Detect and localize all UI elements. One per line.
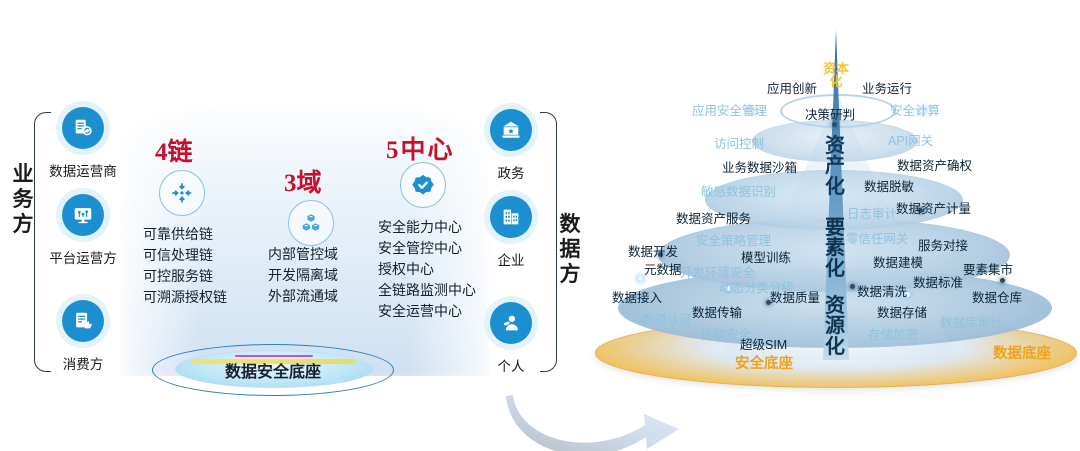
capability-node-label: 要素集市 [963,259,1013,278]
glow-dot [638,276,643,281]
glow-dot [850,284,855,289]
list-item: 外部流通域 [268,287,338,308]
diagram-canvas: 业务方 数据方 数据运营商 [0,0,1080,451]
list-item: 可溯源授权链 [143,288,227,309]
heading-3-domains: 3域 [284,163,322,199]
capability-node-label: 应用创新 [767,78,817,97]
capability-node-label: 数据传输 [692,302,742,321]
capability-node-label: 业务数据沙箱 [722,157,797,176]
list-item: 安全能力中心 [378,218,476,239]
capability-node-label: 超级SIM [740,334,787,353]
glow-dot [1000,278,1005,283]
capability-node-label: API网关 [888,130,933,149]
capability-node-label: 数据库审计 [940,312,1003,331]
actor-chip-individual[interactable] [484,296,538,350]
list-item: 安全管控中心 [378,239,476,260]
list-5-centers: 安全能力中心 安全管控中心 授权中心 全链路监测中心 安全运营中心 [378,218,476,323]
list-item: 授权中心 [378,260,476,281]
stage-name-capitalization: 资本化 [819,62,853,89]
actor-chip-consumer[interactable] [56,294,110,348]
capability-node-label: 数据开发 [628,241,678,260]
capability-node-label: 数据质量 [770,287,820,306]
capability-node-label: 决策研判 [805,104,855,123]
actor-chip-enterprise[interactable] [484,190,538,244]
list-3-domains: 内部管控域 开发隔离域 外部流通域 [268,245,338,308]
office-building-icon [490,196,532,238]
list-item: 内部管控域 [268,245,338,266]
capability-node-label: 敏感数据识别 [701,181,776,200]
capability-node-label: 应用安全管理 [692,100,767,119]
business-bracket [34,112,51,372]
list-item: 全链路监测中心 [378,281,476,302]
document-sync-icon [62,107,104,149]
heading-5-centers: 5中心 [386,130,455,166]
list-item: 可靠供给链 [143,225,227,246]
capability-node-label: 数据标准 [913,272,963,291]
capability-node-label: 访问控制 [714,133,764,152]
capability-node-label: 数据脱敏 [864,176,914,195]
list-item: 可控服务链 [143,267,227,288]
document-thumbsup-icon [62,300,104,342]
government-building-icon [490,109,532,151]
actor-chip-government[interactable] [484,103,538,157]
stage-name-assetization: 资产化 [818,136,852,197]
capability-node-label: 数据建模 [873,252,923,271]
capability-node-label: 零信任网关 [846,228,909,247]
monitor-dashboard-icon [62,194,104,236]
data-base-caption: 数据底座 [993,342,1051,363]
actor-caption-data-operator: 数据运营商 [29,160,137,180]
actor-caption-government: 政务 [457,162,565,182]
list-4-chains: 可靠供给链 可信处理链 可控服务链 可溯源授权链 [143,225,227,309]
capability-node-label: 数据存储 [877,302,927,321]
data-security-base-label: 数据安全底座 [175,358,371,382]
converge-arrows-icon [159,170,205,216]
data-bracket [540,112,557,372]
capability-node-label: 日志审计 [847,203,897,222]
right-cone-panel: 资本化 资产化 要素化 资源化 应用创新业务运行决策研判应用安全管理安全计算访问… [600,0,1080,451]
capability-node-label: 业务运行 [862,78,912,97]
actor-caption-individual: 个人 [457,355,565,375]
capability-node-label: 数据资产计量 [896,198,971,217]
capability-node-label: 服务对接 [918,235,968,254]
capability-node-label: 数据仓库 [972,287,1022,306]
capability-node-label: 数源认证 [642,309,692,328]
star-shield-icon [400,162,446,208]
capability-node-label: 存储加密 [868,324,918,343]
cubes-icon [288,200,334,246]
list-item: 安全运营中心 [378,302,476,323]
capability-node-label: 数据接入 [612,287,662,306]
actor-chip-data-operator[interactable] [56,101,110,155]
stage-name-resourcification: 资源化 [818,296,852,357]
capability-node-label: 元数据 [644,259,682,278]
left-architecture-panel: 业务方 数据方 数据运营商 [0,0,600,451]
actor-chip-platform-operator[interactable] [56,188,110,242]
heading-4-chains: 4链 [155,132,193,168]
actor-caption-platform-operator: 平台运营方 [29,247,137,267]
capability-node-label: 数据资产服务 [676,208,751,227]
capability-node-label: 数据清洗 [857,281,907,300]
capability-node-label: 数据资产确权 [897,155,972,174]
list-item: 可信处理链 [143,246,227,267]
security-base-caption: 安全底座 [735,352,793,373]
actor-caption-consumer: 消费方 [29,353,137,373]
person-icon [490,302,532,344]
list-item: 开发隔离域 [268,266,338,287]
capability-node-label: 安全计算 [890,100,940,119]
